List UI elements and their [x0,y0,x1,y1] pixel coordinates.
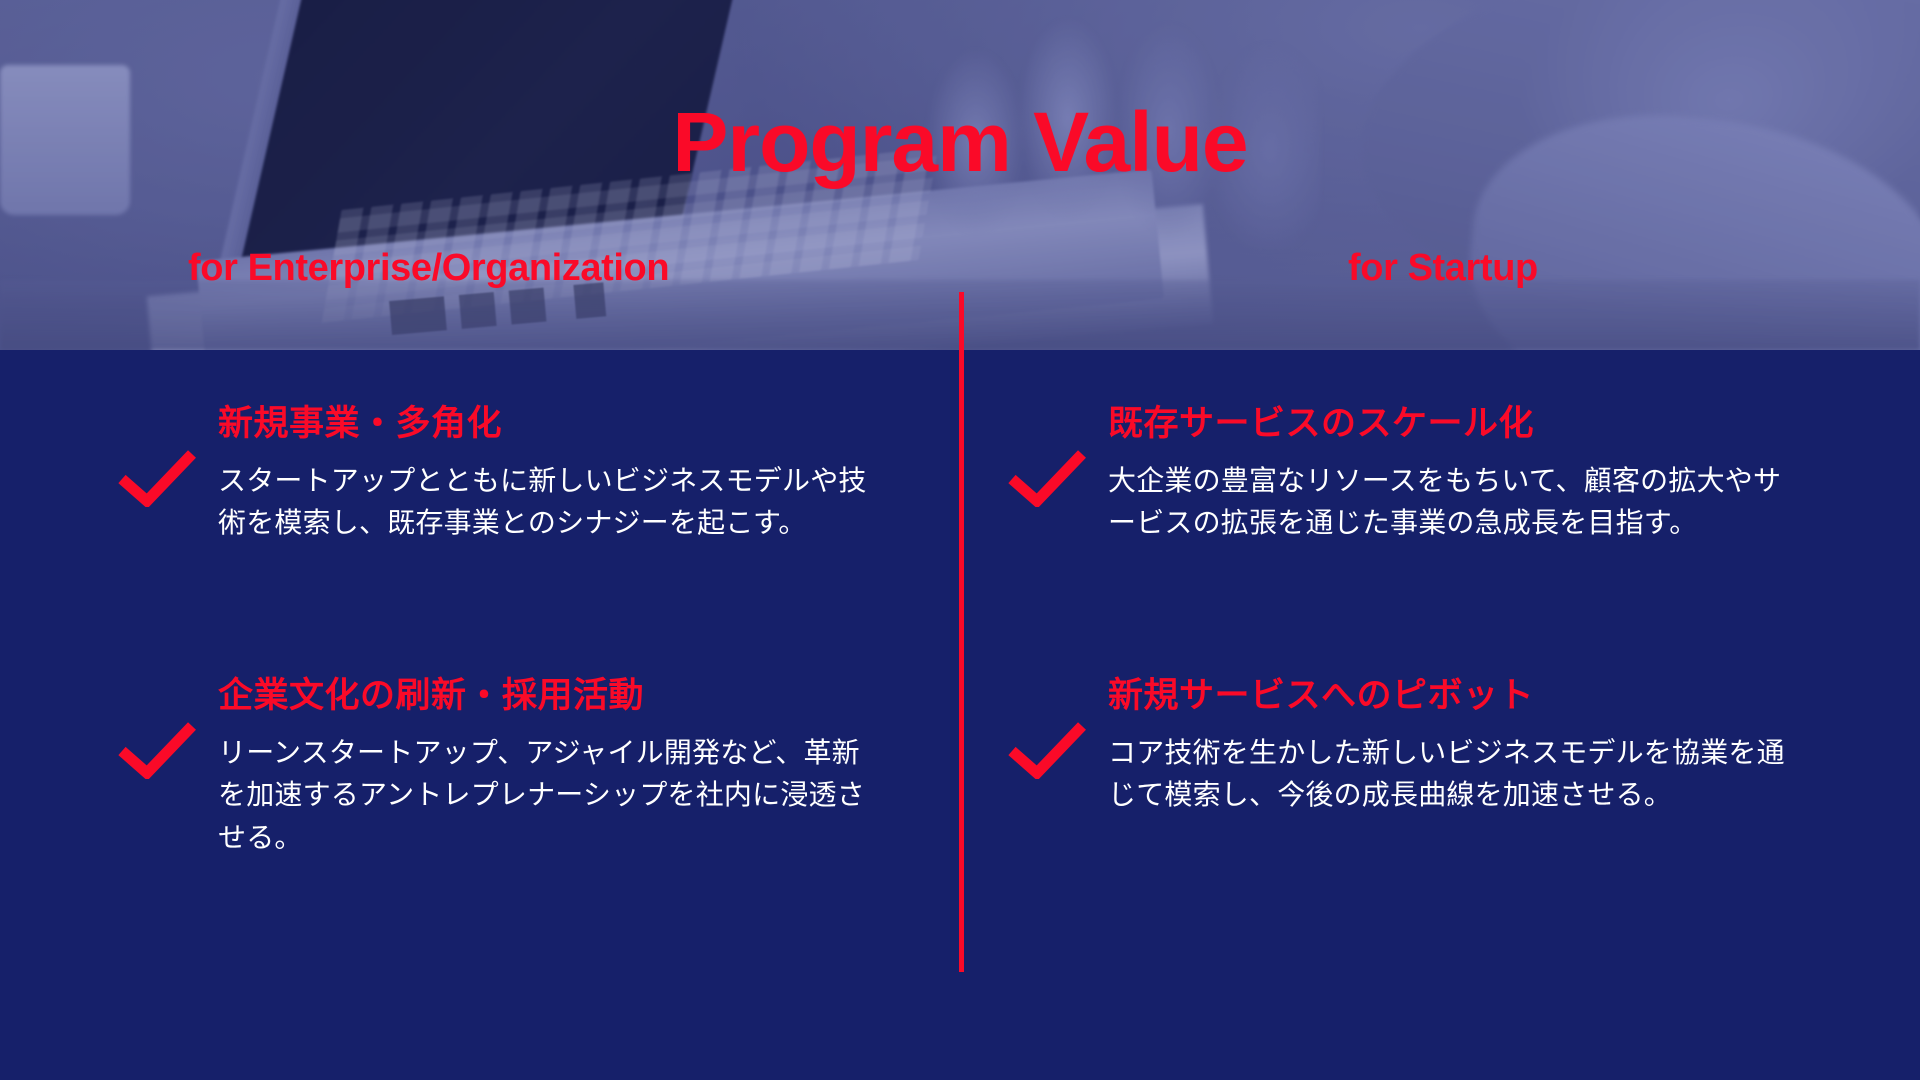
column-startup: 既存サービスのスケール化 大企業の豊富なリソースをもちいて、顧客の拡大やサービス… [960,350,1920,1080]
list-item-text: 既存サービスのスケール化 大企業の豊富なリソースをもちいて、顧客の拡大やサービス… [1100,405,1798,545]
list-item-title: 企業文化の刷新・採用活動 [218,677,878,716]
page-title: Program Value [0,100,1920,184]
list-item-body: 大企業の豊富なリソースをもちいて、顧客の拡大やサービスの拡張を通じた事業の急成長… [1108,460,1798,545]
hero-subtitle-enterprise: for Enterprise/Organization [188,247,669,290]
list-item-text: 新規事業・多角化 スタートアップとともに新しいビジネスモデルや技術を模索し、既存… [210,405,878,545]
check-icon [118,405,210,545]
list-item-body: コア技術を生かした新しいビジネスモデルを協業を通じて模索し、今後の成長曲線を加速… [1108,732,1798,817]
list-item-body: リーンスタートアップ、アジャイル開発など、革新を加速するアントレプレナーシップを… [218,732,878,860]
column-divider [959,292,964,972]
list-item-text: 企業文化の刷新・採用活動 リーンスタートアップ、アジャイル開発など、革新を加速す… [210,677,878,859]
check-icon [1008,405,1100,545]
list-item-title: 新規事業・多角化 [218,405,878,444]
list-item: 新規事業・多角化 スタートアップとともに新しいビジネスモデルや技術を模索し、既存… [118,405,878,545]
column-enterprise: 新規事業・多角化 スタートアップとともに新しいビジネスモデルや技術を模索し、既存… [0,350,960,1080]
check-icon [1008,677,1100,817]
slide-root: Program Value for Enterprise/Organizatio… [0,0,1920,1080]
list-item-body: スタートアップとともに新しいビジネスモデルや技術を模索し、既存事業とのシナジーを… [218,460,878,545]
list-item-text: 新規サービスへのピボット コア技術を生かした新しいビジネスモデルを協業を通じて模… [1100,677,1798,817]
list-item-title: 新規サービスへのピボット [1108,677,1798,716]
check-icon [118,677,210,859]
hero-subtitle-startup: for Startup [1348,247,1538,290]
list-item-title: 既存サービスのスケール化 [1108,405,1798,444]
list-item: 企業文化の刷新・採用活動 リーンスタートアップ、アジャイル開発など、革新を加速す… [118,677,878,859]
list-item: 既存サービスのスケール化 大企業の豊富なリソースをもちいて、顧客の拡大やサービス… [1008,405,1798,545]
list-item: 新規サービスへのピボット コア技術を生かした新しいビジネスモデルを協業を通じて模… [1008,677,1798,817]
